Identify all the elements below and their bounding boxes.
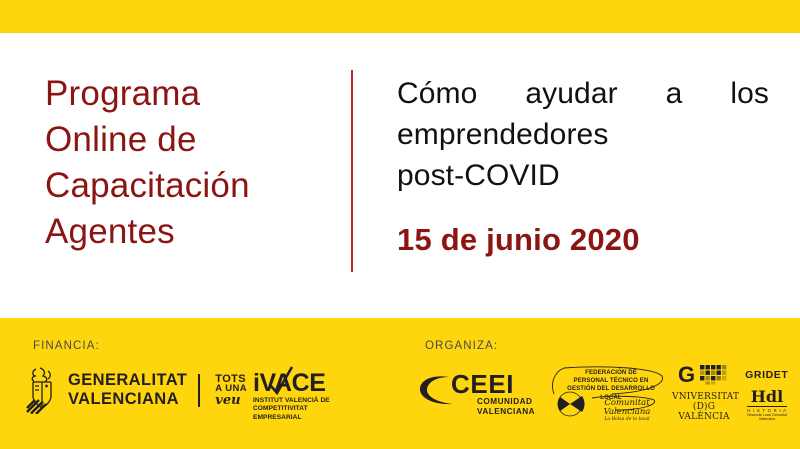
hdl-subtitle-line-2: Desarrollo Local Comunitat Valenciana bbox=[744, 413, 790, 421]
ivace-subtitle-line-2: COMPETITIVITAT EMPRESARIAL bbox=[253, 405, 345, 422]
top-yellow-bar bbox=[0, 0, 800, 33]
program-title: Programa Online de Capacitación Agentes bbox=[45, 71, 330, 255]
session-headline-line-3: post-COVID bbox=[397, 155, 769, 196]
federacion-script-text: Comunitat Valenciana bbox=[604, 398, 651, 417]
gridet-letter: G bbox=[678, 364, 695, 386]
sponsor-footer: FINANCIA: ORGANIZA: bbox=[0, 318, 800, 449]
tagline-line-3: veu bbox=[215, 396, 247, 407]
session-headline-line-1: Cómo ayudar a los bbox=[397, 73, 769, 114]
generalitat-name-line-1: GENERALITAT bbox=[68, 371, 187, 390]
main-content-area: Programa Online de Capacitación Agentes … bbox=[0, 33, 800, 318]
federacion-comunitat-script: Comunitat Valenciana La Bolsa de lo loca… bbox=[594, 399, 660, 423]
logo-generalitat-valenciana: GENERALITAT VALENCIANA TOTS A UNA veu bbox=[24, 366, 247, 414]
generalitat-name-line-2: VALENCIANA bbox=[68, 390, 187, 409]
gridet-mark: G GRIDET bbox=[678, 364, 788, 386]
federacion-name: FEDERACIÓN DE PERSONAL TÉCNICO EN GESTIÓ… bbox=[564, 369, 658, 402]
ivace-check-icon bbox=[269, 366, 295, 398]
hdl-divider bbox=[747, 406, 787, 407]
logo-gridet-group: G GRIDET bbox=[672, 364, 792, 420]
program-title-line-1: Programa bbox=[45, 71, 330, 117]
logo-hdl: Hdl H I S T O R I A Desarrollo Local Com… bbox=[744, 388, 790, 421]
federacion-line-1: FEDERACIÓN DE bbox=[564, 369, 658, 377]
session-headline: Cómo ayudar a los emprendedores post-COV… bbox=[397, 73, 769, 196]
program-title-line-2: Online de bbox=[45, 117, 330, 163]
session-headline-line-2: emprendedores bbox=[397, 114, 769, 155]
gridet-pixel-grid-icon bbox=[700, 365, 740, 385]
ivace-subtitle: INSTITUT VALENCIÀ DE COMPETITIVITAT EMPR… bbox=[253, 397, 345, 422]
federacion-script-sub: La Bolsa de lo local bbox=[594, 417, 660, 423]
organiza-label: ORGANIZA: bbox=[425, 340, 498, 352]
ceei-wordmark: CEEI bbox=[451, 371, 514, 398]
hdl-wordmark: Hdl bbox=[744, 388, 790, 405]
gridet-wordmark: GRIDET bbox=[745, 369, 788, 381]
universitat-line-1: VNIVERSITAT bbox=[672, 392, 736, 402]
generalitat-separator bbox=[198, 374, 200, 407]
ceei-subtitle-line-2: VALENCIANA bbox=[477, 407, 535, 417]
universitat-line-2: (D)G VALÈNCIA bbox=[672, 402, 736, 422]
logo-ivace: iVACE INSTITUT VALENCIÀ DE COMPETITIVITA… bbox=[253, 370, 345, 422]
program-title-line-4: Agentes bbox=[45, 209, 330, 255]
logo-ceei: CEEI COMUNIDAD VALENCIANA bbox=[419, 371, 529, 415]
program-title-line-3: Capacitación bbox=[45, 163, 330, 209]
generalitat-wordmark: GENERALITAT VALENCIANA bbox=[68, 371, 187, 409]
ceei-subtitle: COMUNIDAD VALENCIANA bbox=[477, 397, 535, 417]
logo-universitat-de-valencia: VNIVERSITAT (D)G VALÈNCIA bbox=[672, 392, 736, 422]
financia-label: FINANCIA: bbox=[33, 340, 100, 352]
generalitat-shield-icon bbox=[24, 366, 60, 414]
vertical-divider bbox=[351, 70, 353, 272]
ivace-subtitle-line-1: INSTITUT VALENCIÀ DE bbox=[253, 397, 345, 405]
session-info: Cómo ayudar a los emprendedores post-COV… bbox=[397, 73, 769, 259]
ivace-mark: iVACE bbox=[253, 370, 345, 396]
event-banner: Programa Online de Capacitación Agentes … bbox=[0, 0, 800, 449]
ceei-subtitle-line-1: COMUNIDAD bbox=[477, 397, 535, 407]
event-date: 15 de junio 2020 bbox=[397, 221, 769, 259]
tots-a-una-veu-tagline: TOTS A UNA veu bbox=[215, 374, 247, 407]
logo-federacion-desarrollo-local: FEDERACIÓN DE PERSONAL TÉCNICO EN GESTIÓ… bbox=[548, 366, 666, 418]
